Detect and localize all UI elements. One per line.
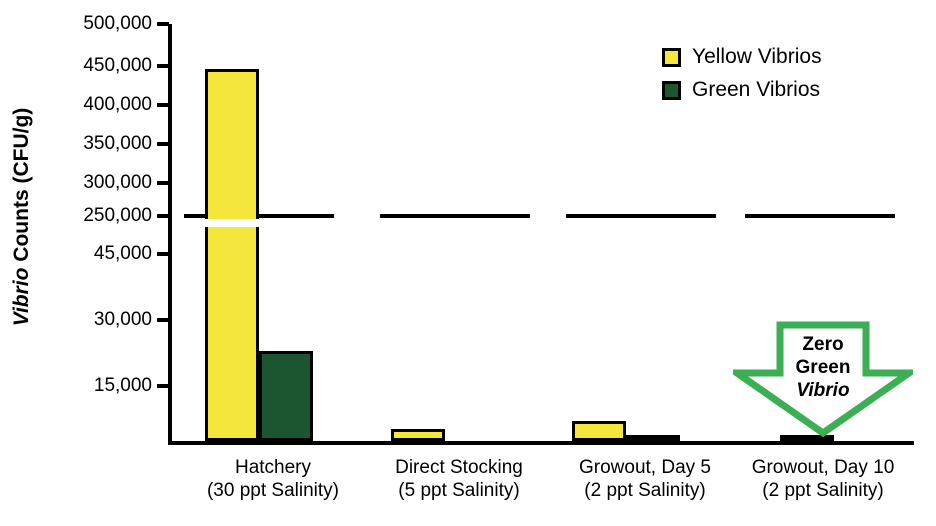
y-tick-mark [157,64,169,68]
axis-break-segment-1 [380,214,530,218]
callout-line-1: Zero [733,333,913,356]
y-tick-mark [157,384,169,388]
y-tick-label: 250,000 [83,205,152,227]
y-axis-title-italic: Vibrio [10,268,33,327]
legend-swatch-icon [662,48,681,67]
y-tick-mark [157,142,169,146]
y-axis-line [168,24,172,445]
legend-item-1: Green Vibrios [662,78,822,102]
callout-text: Zero Green Vibrio [733,333,913,402]
y-tick-mark [157,181,169,185]
y-tick-mark [157,103,169,107]
x-category-label-3: Growout, Day 10(2 ppt Salinity) [728,456,918,502]
chart-figure: Vibrio Counts (CFU/g) 500,000450,000400,… [0,0,936,526]
axis-break-segment-3 [745,214,895,218]
x-category-label-line2: (30 ppt Salinity) [178,479,368,502]
x-category-label-0: Hatchery(30 ppt Salinity) [178,456,368,502]
legend-label: Green Vibrios [692,78,820,102]
x-axis-line [168,441,914,445]
y-tick-mark [157,214,169,218]
legend-swatch-icon [662,81,681,100]
bar-hatchery-yellow-upper [205,69,259,219]
y-tick-mark [157,252,169,256]
x-category-label-line1: Growout, Day 10 [728,456,918,479]
x-category-label-2: Growout, Day 5(2 ppt Salinity) [550,456,740,502]
x-category-label-1: Direct Stocking(5 ppt Salinity) [364,456,554,502]
y-tick-label: 350,000 [83,133,152,155]
bar-growout-day5-yellow [572,421,626,441]
x-category-label-line2: (2 ppt Salinity) [550,479,740,502]
x-category-label-line1: Direct Stocking [364,456,554,479]
y-tick-label: 400,000 [83,94,152,116]
legend: Yellow VibriosGreen Vibrios [662,45,822,111]
y-axis-title-rest: Counts (CFU/g) [10,108,33,268]
x-category-label-line2: (5 ppt Salinity) [364,479,554,502]
y-tick-mark [157,318,169,322]
bar-growout-day5-green [626,435,680,441]
y-tick-label: 450,000 [83,55,152,77]
x-category-label-line1: Hatchery [178,456,368,479]
y-axis-title: Vibrio Counts (CFU/g) [10,27,34,407]
y-tick-label: 15,000 [94,375,152,397]
x-category-label-line1: Growout, Day 5 [550,456,740,479]
axis-break-segment-2 [566,214,716,218]
y-tick-label: 45,000 [94,243,152,265]
bar-direct-stocking-yellow [391,429,445,441]
y-axis-title-container: Vibrio Counts (CFU/g) [0,0,44,450]
x-category-label-line2: (2 ppt Salinity) [728,479,918,502]
callout-line-2: Green [733,356,913,379]
y-tick-mark [157,22,169,26]
bar-hatchery-yellow-lower [205,227,259,441]
legend-label: Yellow Vibrios [692,45,822,69]
bar-hatchery-green [259,351,313,441]
zero-green-vibrio-arrow: Zero Green Vibrio [733,321,913,437]
y-tick-label: 500,000 [83,13,152,35]
y-tick-label: 300,000 [83,172,152,194]
callout-line-3: Vibrio [733,379,913,402]
y-tick-label: 30,000 [94,309,152,331]
legend-item-0: Yellow Vibrios [662,45,822,69]
